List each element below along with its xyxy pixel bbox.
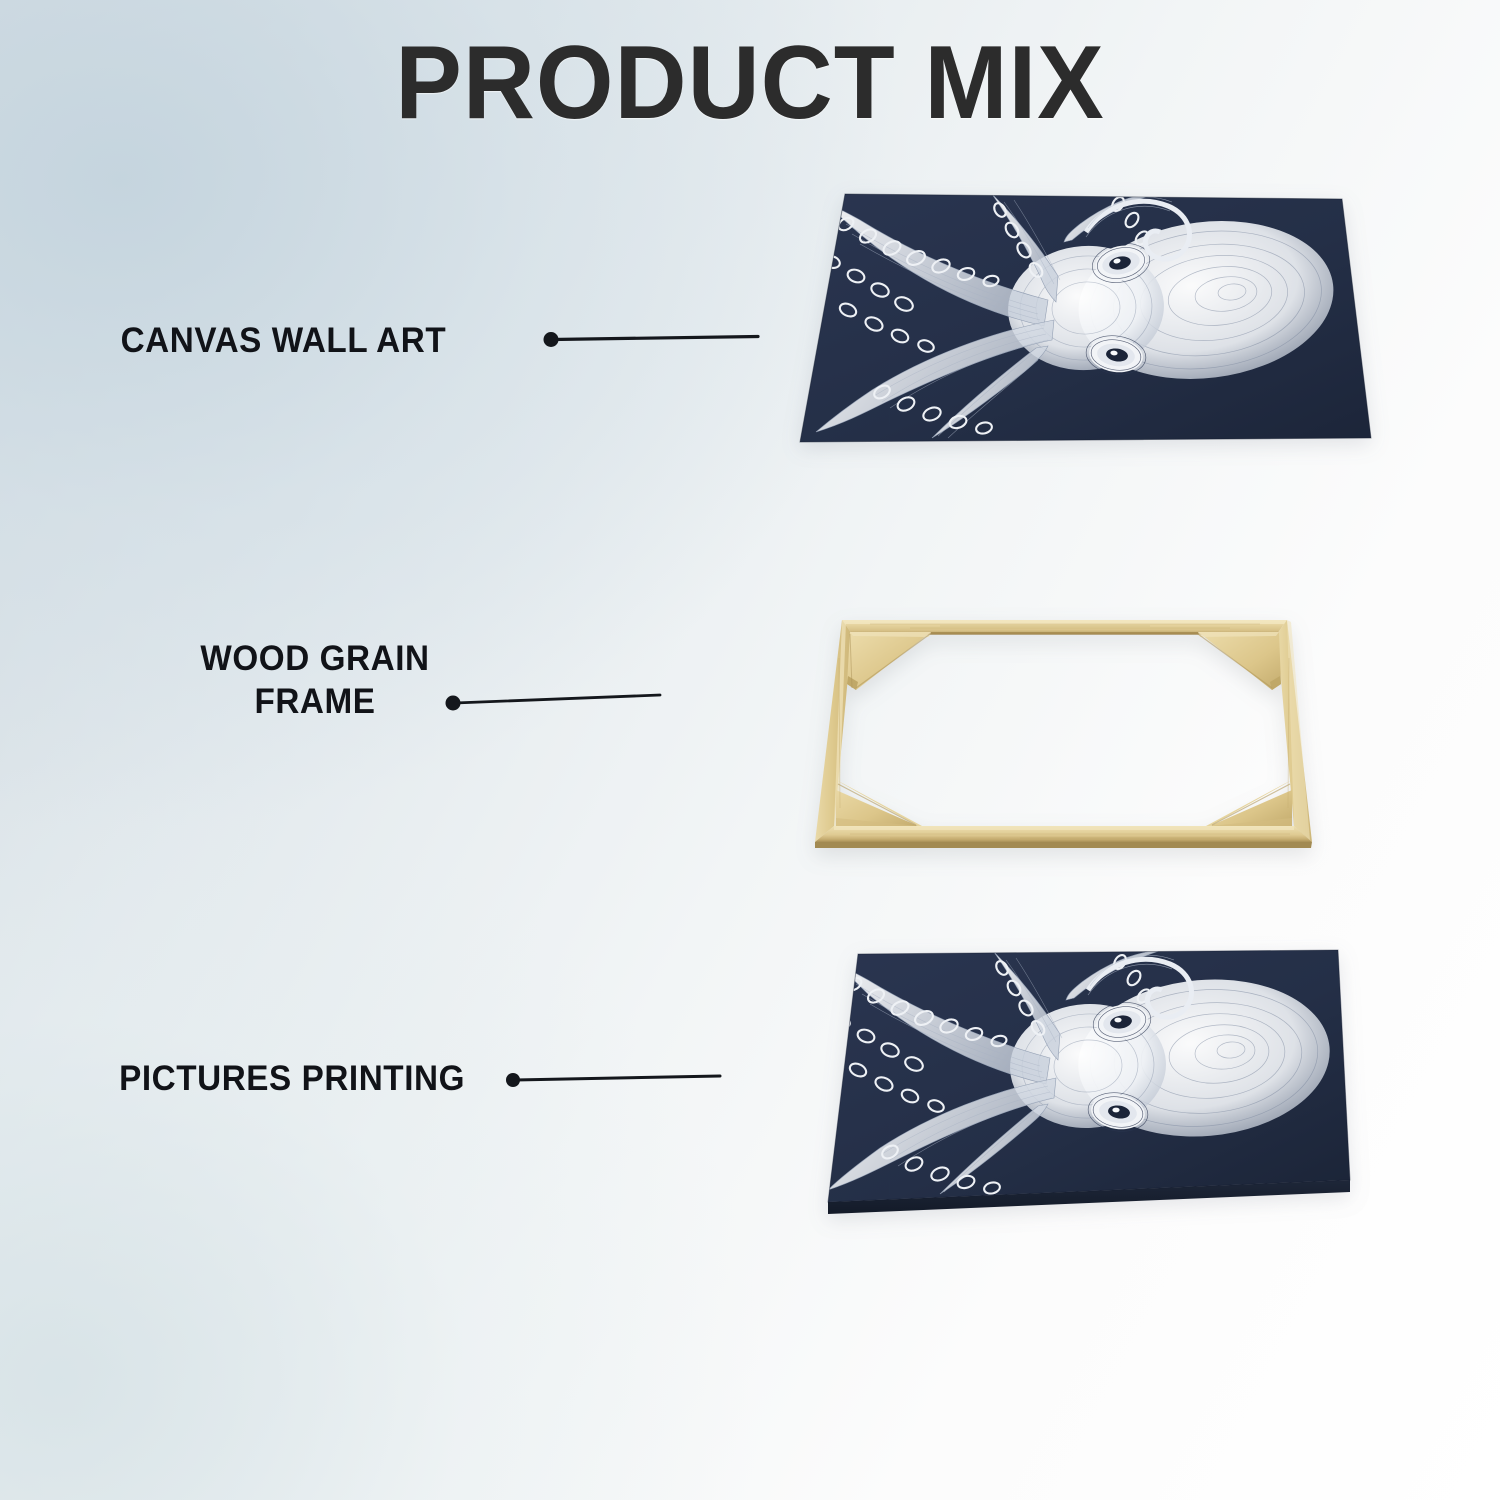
leader-line-wood-grain-frame [442, 682, 682, 722]
callout-label-pictures-printing: PICTURES PRINTING [119, 1058, 465, 1101]
leader-line-pictures-printing [502, 1060, 742, 1100]
product-image-canvas-wall-art [786, 180, 1386, 460]
product-image-pictures-printing [800, 930, 1400, 1220]
infographic-root: PRODUCT MIX CANVAS WALL ART [0, 0, 1500, 1500]
page-title: PRODUCT MIX [30, 28, 1470, 138]
callout-label-wood-grain-frame: WOOD GRAIN FRAME [158, 638, 472, 723]
product-image-wood-grain-frame [790, 598, 1335, 858]
callout-label-canvas-wall-art: CANVAS WALL ART [121, 320, 447, 363]
callout-label-line-1: WOOD GRAIN [158, 638, 472, 681]
leader-line-canvas-wall-art [540, 320, 780, 360]
callout-label-line-2: FRAME [158, 681, 472, 724]
